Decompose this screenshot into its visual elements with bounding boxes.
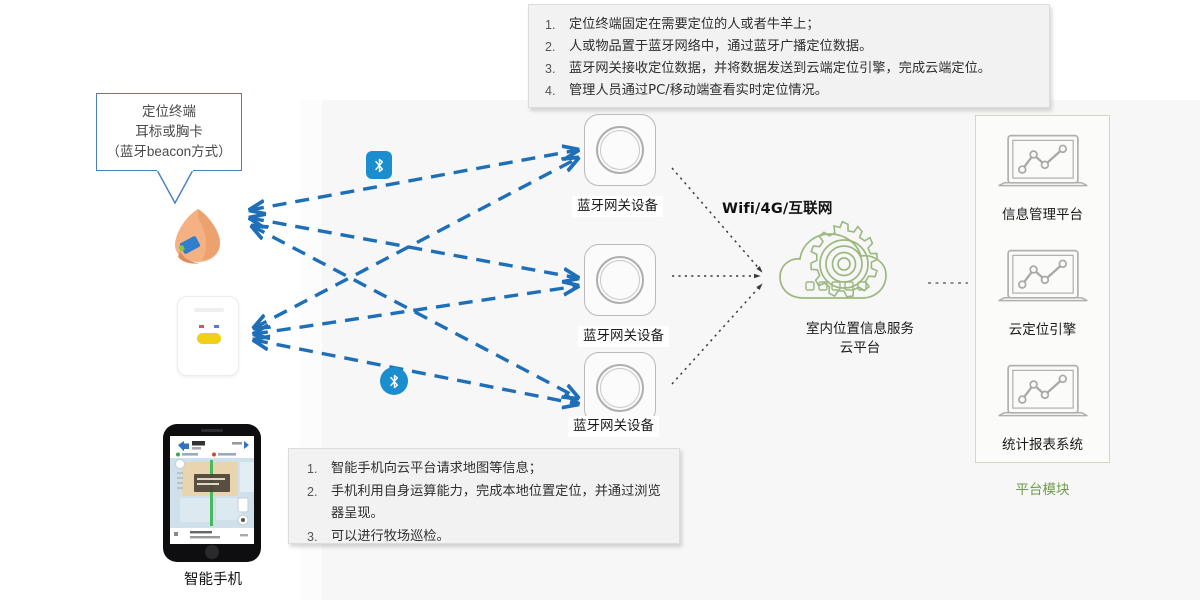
note-bottom-item-2: 手机利用自身运算能力，完成本地位置定位，并通过浏览器呈现。 [305, 481, 665, 526]
phone-speaker [201, 429, 223, 432]
platform-item-label: 云定位引擎 [975, 318, 1110, 338]
platform-item-cloud-engine[interactable]: 云定位引擎 [975, 245, 1110, 338]
note-top-item-2: 人或物品置于蓝牙网络中，通过蓝牙广播定位数据。 [543, 36, 1035, 58]
platform-item-label: 信息管理平台 [975, 203, 1110, 223]
platform-item-info-management[interactable]: 信息管理平台 [975, 130, 1110, 223]
cloud-label-line-2: 云平台 [762, 339, 958, 358]
phone-home-button [205, 545, 219, 559]
laptop-chart-icon [991, 130, 1095, 196]
note-bottom-list: 智能手机向云平台请求地图等信息； 手机利用自身运算能力，完成本地位置定位，并通过… [305, 458, 665, 548]
platform-module-title: 平台模块 [975, 478, 1110, 498]
platform-item-report-system[interactable]: 统计报表系统 [975, 360, 1110, 453]
cloud-label-line-1: 室内位置信息服务 [762, 320, 958, 339]
note-box-bottom: 智能手机向云平台请求地图等信息； 手机利用自身运算能力，完成本地位置定位，并通过… [288, 448, 680, 544]
note-top-item-4: 管理人员通过PC/移动端查看实时定位情况。 [543, 80, 1035, 102]
smartphone-device [163, 424, 261, 562]
diagram-canvas: 定位终端 耳标或胸卡 （蓝牙beacon方式） [0, 0, 1200, 600]
note-bottom-item-3: 可以进行牧场巡检。 [305, 526, 665, 549]
note-bottom-item-1: 智能手机向云平台请求地图等信息； [305, 458, 665, 481]
smartphone-label: 智能手机 [155, 568, 271, 589]
laptop-chart-icon [991, 360, 1095, 426]
note-top-item-1: 定位终端固定在需要定位的人或者牛羊上； [543, 14, 1035, 36]
platform-item-label: 统计报表系统 [975, 433, 1110, 453]
note-top-list: 定位终端固定在需要定位的人或者牛羊上； 人或物品置于蓝牙网络中，通过蓝牙广播定位… [543, 14, 1035, 102]
navigation-map-screen [170, 436, 254, 544]
note-box-top: 定位终端固定在需要定位的人或者牛羊上； 人或物品置于蓝牙网络中，通过蓝牙广播定位… [528, 4, 1050, 108]
laptop-chart-icon [991, 245, 1095, 311]
cloud-platform-label: 室内位置信息服务 云平台 [762, 320, 958, 358]
note-top-item-3: 蓝牙网关接收定位数据，并将数据发送到云端定位引擎，完成云端定位。 [543, 58, 1035, 80]
